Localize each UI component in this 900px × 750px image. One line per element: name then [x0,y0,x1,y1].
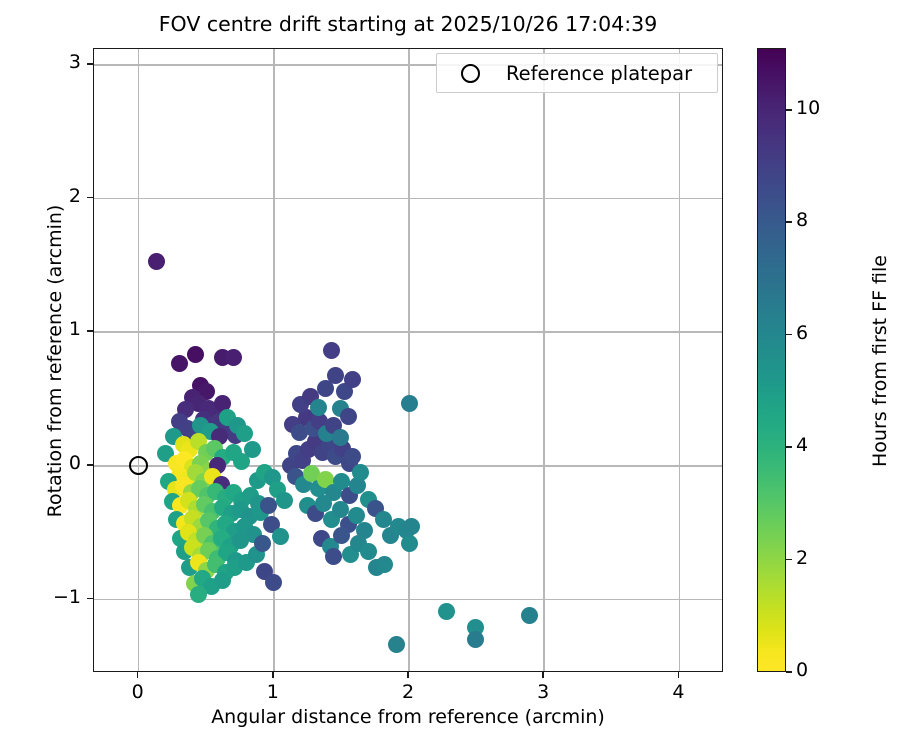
x-tick-label: 4 [648,681,708,703]
chart-title: FOV centre drift starting at 2025/10/26 … [93,12,723,36]
x-tick-label: 2 [378,681,438,703]
x-tick-label: 1 [243,681,303,703]
legend-label: Reference platepar [506,62,692,85]
legend-open-circle-icon [461,64,480,83]
x-tick [542,672,544,678]
colorbar-tick [786,334,792,336]
figure-canvas: FOV centre drift starting at 2025/10/26 … [0,0,900,750]
y-tick [87,464,93,466]
y-tick [87,598,93,600]
colorbar-tick [786,671,792,673]
colorbar-tick [786,221,792,223]
colorbar [757,48,786,672]
x-tick-label: 0 [108,681,168,703]
x-tick [137,672,139,678]
colorbar-tick-label: 4 [796,434,836,456]
reference-layer [94,49,722,671]
y-tick [87,197,93,199]
colorbar-tick-label: 6 [796,322,836,344]
legend: Reference platepar [436,53,718,93]
y-tick [87,63,93,65]
colorbar-tick [786,109,792,111]
x-axis-label: Angular distance from reference (arcmin) [93,706,723,728]
y-tick-label: 3 [27,51,81,73]
x-tick [272,672,274,678]
y-tick-label: −1 [27,586,81,608]
reference-platepar-marker [129,456,148,475]
y-axis-label: Rotation from reference (arcmin) [44,181,66,541]
colorbar-tick [786,559,792,561]
colorbar-tick-label: 0 [796,659,836,681]
colorbar-label: Hours from first FF file [869,181,891,541]
colorbar-tick-label: 10 [796,97,836,119]
x-tick [678,672,680,678]
colorbar-tick-label: 8 [796,209,836,231]
colorbar-tick [786,446,792,448]
y-tick [87,330,93,332]
x-tick-label: 3 [513,681,573,703]
colorbar-gradient [758,49,785,671]
x-tick [407,672,409,678]
colorbar-tick-label: 2 [796,547,836,569]
plot-axes [93,48,723,672]
